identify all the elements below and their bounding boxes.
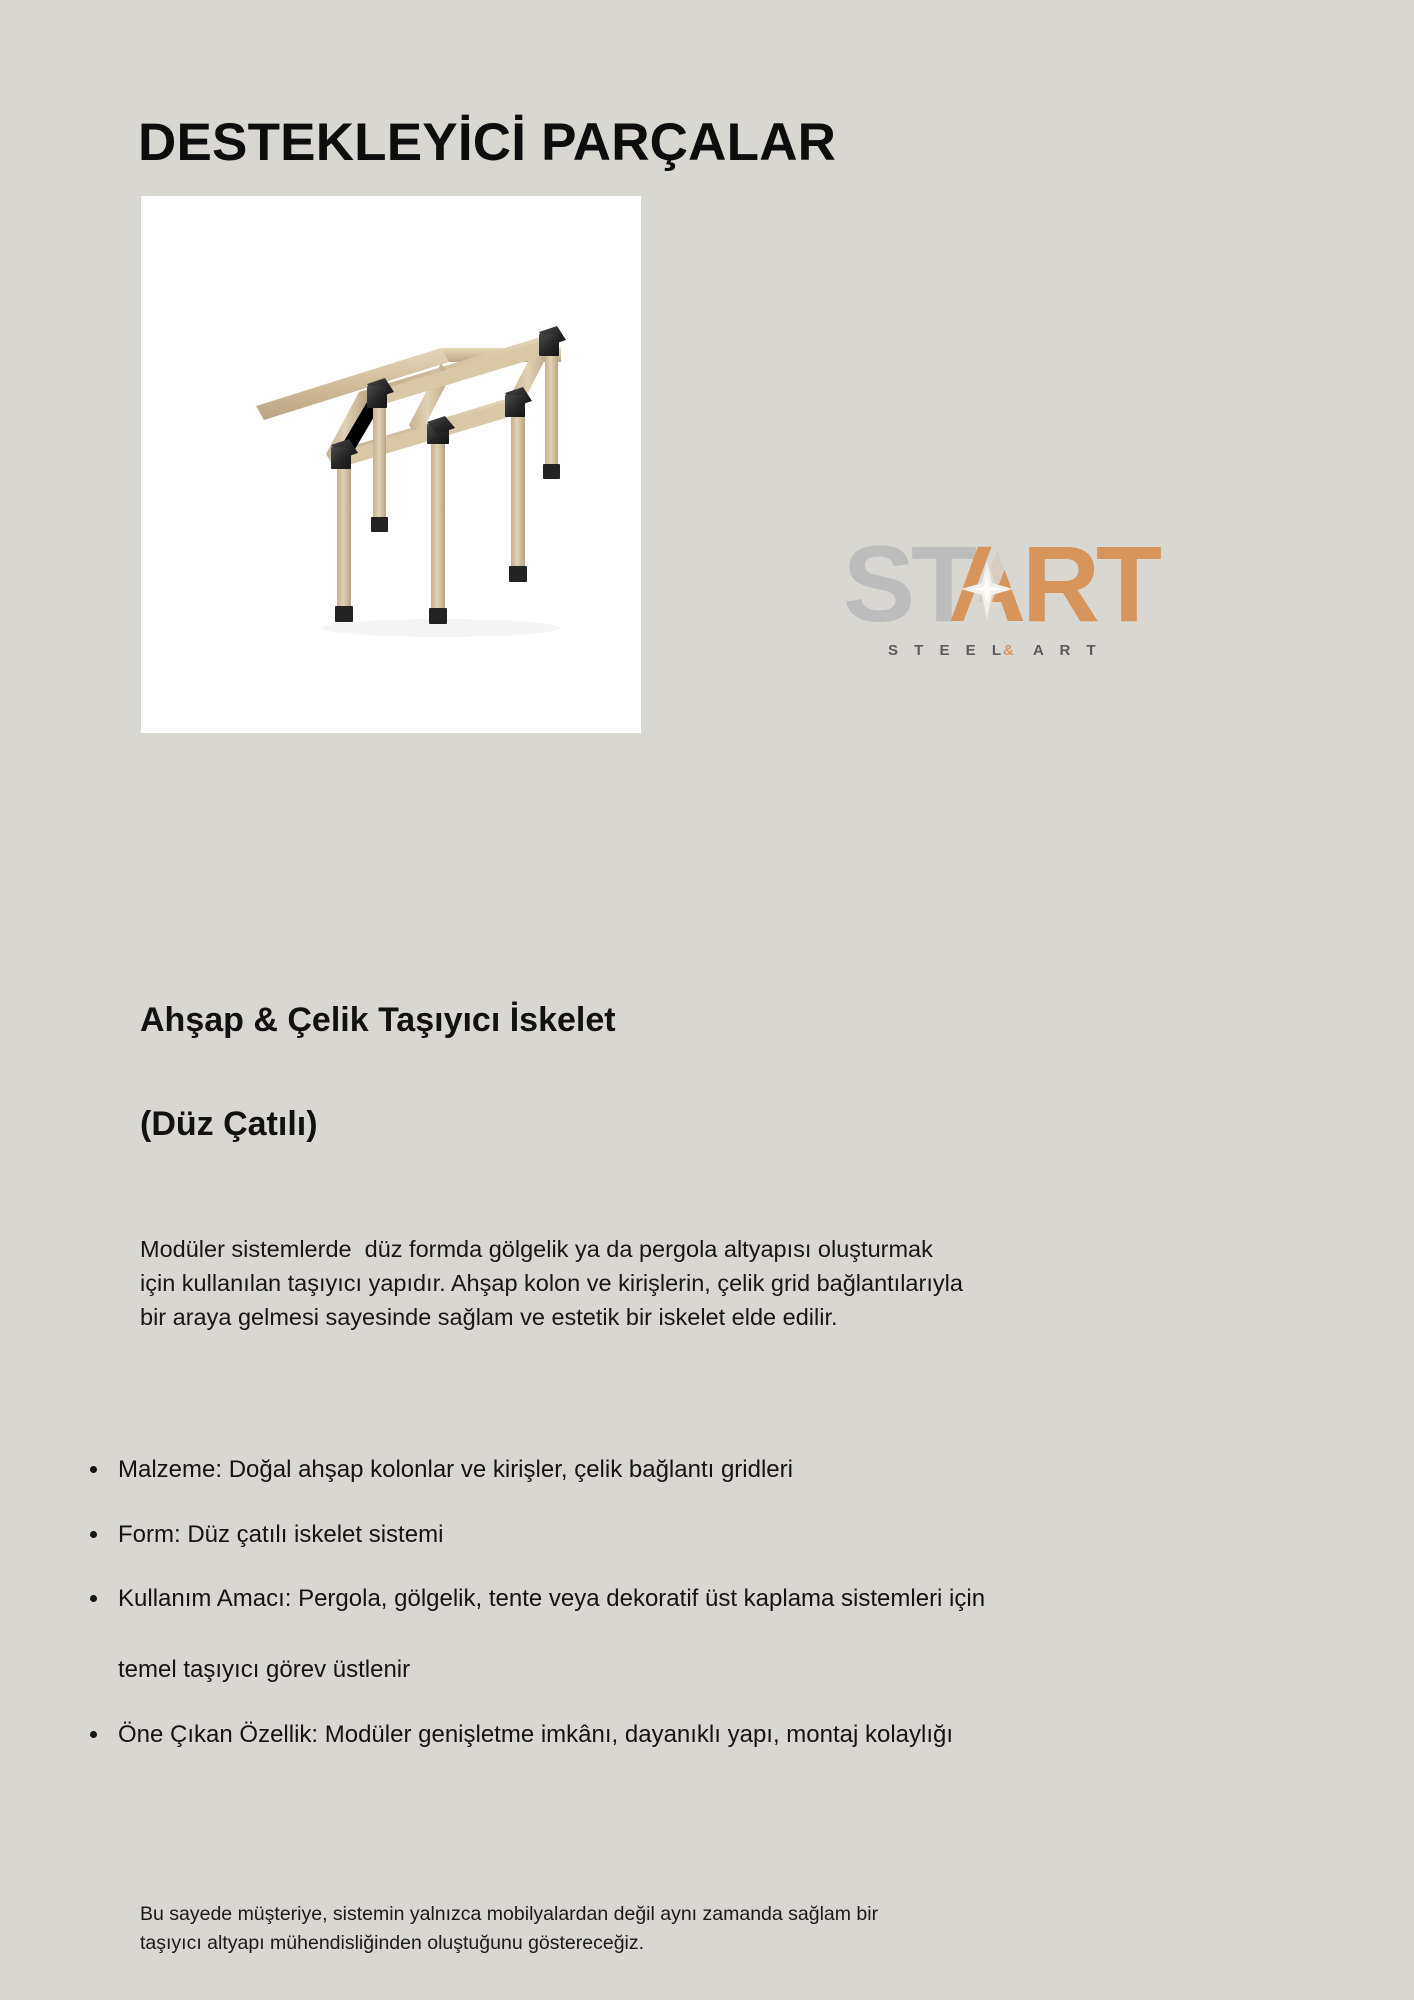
brand-logo: ST ART S T E E L & A R T: [843, 533, 1203, 663]
pergola-frame-illustration: [141, 196, 641, 733]
list-item-continuation: temel taşıyıcı görev üstlenir: [118, 1655, 1322, 1686]
description-line-3: bir araya gelmesi sayesinde sağlam ve es…: [140, 1300, 1245, 1334]
description-paragraph: Modüler sistemlerde düz formda gölgelik …: [140, 1232, 1245, 1334]
list-item: Öne Çıkan Özellik: Modüler genişletme im…: [82, 1720, 1322, 1751]
list-item-text: Kullanım Amacı: Pergola, gölgelik, tente…: [118, 1585, 985, 1612]
list-item: Form: Düz çatılı iskelet sistemi: [82, 1520, 1322, 1551]
footer-line-1: Bu sayede müşteriye, sistemin yalnızca m…: [140, 1900, 1200, 1929]
bullet-dot-icon: [90, 1595, 97, 1602]
logo-mark: ST ART: [843, 533, 1161, 644]
document-page: DESTEKLEYİCİ PARÇALAR: [0, 0, 1414, 2000]
bullet-dot-icon: [90, 1531, 97, 1538]
description-line-1: Modüler sistemlerde düz formda gölgelik …: [140, 1232, 1245, 1266]
tagline-ampersand: &: [1003, 642, 1020, 659]
list-item-text: Öne Çıkan Özellik: Modüler genişletme im…: [118, 1721, 953, 1748]
logo-tagline: S T E E L & A R T: [888, 642, 1102, 659]
list-item: Malzeme: Doğal ahşap kolonlar ve kirişle…: [82, 1455, 1322, 1486]
feature-list: Malzeme: Doğal ahşap kolonlar ve kirişle…: [82, 1455, 1322, 1785]
list-item-text: Malzeme: Doğal ahşap kolonlar ve kirişle…: [118, 1456, 793, 1483]
description-line-2: için kullanılan taşıyıcı yapıdır. Ahşap …: [140, 1266, 1245, 1300]
bullet-dot-icon: [90, 1731, 97, 1738]
product-image-panel: [141, 196, 641, 733]
list-item: Kullanım Amacı: Pergola, gölgelik, tente…: [82, 1584, 1322, 1685]
list-item-text: Form: Düz çatılı iskelet sistemi: [118, 1521, 443, 1548]
tagline-left: S T E E L: [888, 642, 1007, 659]
bullet-dot-icon: [90, 1466, 97, 1473]
footer-line-2: taşıyıcı altyapı mühendisliğinden oluştu…: [140, 1929, 1200, 1958]
product-subheading: (Düz Çatılı): [140, 1105, 318, 1144]
product-heading: Ahşap & Çelik Taşıyıcı İskelet: [140, 1001, 616, 1040]
tagline-right: A R T: [1033, 642, 1102, 659]
page-title: DESTEKLEYİCİ PARÇALAR: [138, 114, 836, 172]
footer-note: Bu sayede müşteriye, sistemin yalnızca m…: [140, 1900, 1200, 1959]
